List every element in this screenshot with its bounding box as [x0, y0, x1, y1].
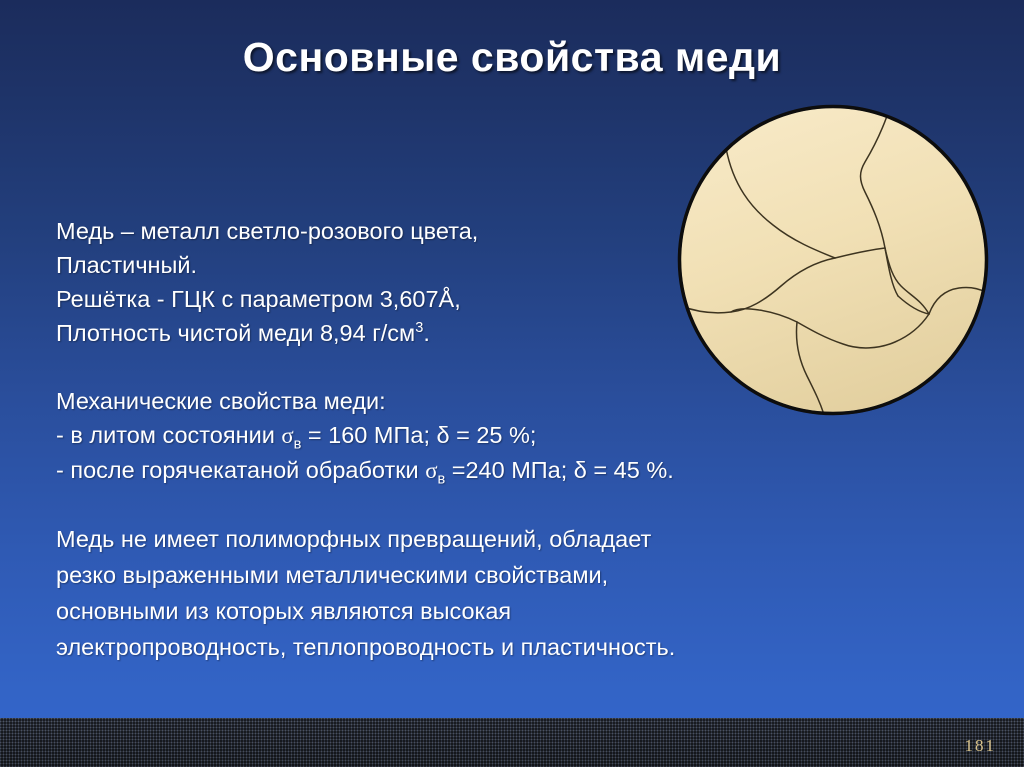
intro-line-2: Пластичный.	[56, 248, 478, 282]
sigma-symbol: σ	[281, 423, 293, 448]
intro-block: Медь – металл светло-розового цвета, Пла…	[56, 214, 478, 350]
mechanical-block: Механические свойства меди: - в литом со…	[56, 384, 674, 488]
rolled-label: - после горячекатаной обработки	[56, 457, 425, 483]
intro-line-1: Медь – металл светло-розового цвета,	[56, 214, 478, 248]
footer-band	[0, 718, 1024, 767]
density-period: .	[423, 320, 430, 346]
intro-line-4: Плотность чистой меди 8,94 г/см3.	[56, 316, 478, 350]
cast-values: = 160 МПа; δ = 25 %;	[301, 422, 536, 448]
sigma-symbol: σ	[425, 458, 437, 483]
note-paragraph: Медь не имеет полиморфных превращений, о…	[56, 521, 716, 665]
page-number: 181	[965, 736, 997, 756]
intro-line-3: Решётка - ГЦК с параметром 3,607Å,	[56, 282, 478, 316]
mechanical-heading: Механические свойства меди:	[56, 384, 674, 418]
cast-label: - в литом состоянии	[56, 422, 281, 448]
mechanical-row-rolled: - после горячекатаной обработки σв =240 …	[56, 453, 674, 488]
microstructure-image	[673, 100, 993, 420]
density-text: Плотность чистой меди 8,94 г/см	[56, 320, 415, 346]
slide: Основные свойства меди	[0, 0, 1024, 767]
rolled-values: =240 МПа; δ = 45 %.	[445, 457, 674, 483]
mechanical-row-cast: - в литом состоянии σв = 160 МПа; δ = 25…	[56, 418, 674, 453]
page-title: Основные свойства меди	[0, 34, 1024, 81]
